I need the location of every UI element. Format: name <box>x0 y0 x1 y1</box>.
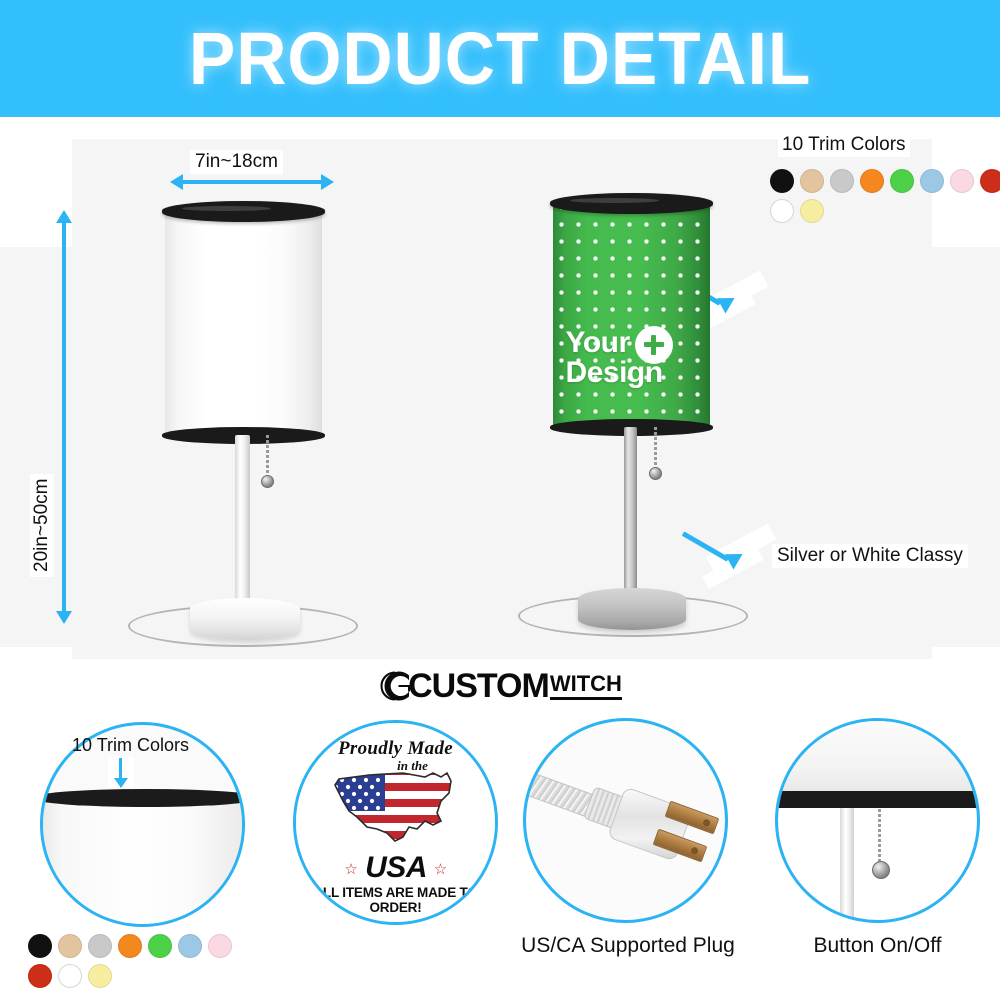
header-banner: PRODUCT DETAIL <box>0 0 1000 117</box>
pull-chain-ball[interactable] <box>649 467 662 480</box>
features-section: 10 Trim Colors Proudly Made in the <box>0 710 1000 1000</box>
brand-logo: CUSTOM WITCH <box>0 662 1000 710</box>
pull-chain[interactable] <box>654 427 657 471</box>
star-icon-left: ☆ <box>344 861 357 878</box>
lamp-pole-silver <box>624 427 637 613</box>
feature-trim-colors: 10 Trim Colors <box>0 710 260 1000</box>
feature-switch-caption: Button On/Off <box>765 932 990 960</box>
lampshade-surface <box>165 207 322 437</box>
trim-swatch-orange[interactable] <box>118 934 142 958</box>
lamp-base-silver <box>578 588 686 630</box>
feature-plug-caption: US/CA Supported Plug <box>503 932 753 960</box>
trim-swatch-pink[interactable] <box>950 169 974 193</box>
feature-usa-circle: Proudly Made in the <box>293 720 498 925</box>
feature-plug-circle <box>523 718 728 923</box>
lampshade-trim-closeup <box>40 789 245 807</box>
pull-chain[interactable] <box>266 435 269 479</box>
trim-swatch-yellow[interactable] <box>88 964 112 988</box>
usa-badge-word: ☆ USA ☆ <box>296 851 495 885</box>
trim-swatch-gray[interactable] <box>830 169 854 193</box>
lampshade-bottom-closeup <box>775 718 980 795</box>
base-finish-label: Silver or White Classy <box>772 544 968 568</box>
lamp-base-white <box>190 598 300 640</box>
feature-switch: Button On/Off <box>755 710 1000 1000</box>
usa-map-flag-icon <box>329 767 463 851</box>
height-arrow <box>62 222 66 612</box>
lamp-pole <box>235 435 250 625</box>
brand-underline <box>550 697 622 700</box>
trim-colors-arrow-head <box>114 778 128 788</box>
lampshade-closeup <box>40 797 245 927</box>
width-dimension-label: 7in~18cm <box>190 150 283 174</box>
lamp-pole-closeup <box>840 808 854 923</box>
lampshade-trim-bottom-closeup <box>775 791 980 808</box>
trim-swatch-pink[interactable] <box>208 934 232 958</box>
brand-name-secondary-wrap: WITCH <box>550 673 622 700</box>
lampshade-custom[interactable]: Your Design <box>553 199 710 429</box>
trim-swatch-white[interactable] <box>58 964 82 988</box>
pull-chain-ball-closeup[interactable] <box>872 861 890 879</box>
trim-swatch-red[interactable] <box>980 169 1000 193</box>
product-detail-page: PRODUCT DETAIL 10 Trim Colors 7in~18cm 2… <box>0 0 1000 1000</box>
trim-swatch-light-blue[interactable] <box>920 169 944 193</box>
trim-swatch-yellow[interactable] <box>800 199 824 223</box>
showcase-section: 10 Trim Colors 7in~18cm 20in~50cm <box>0 117 1000 710</box>
brand-name-primary: CUSTOM <box>408 667 549 706</box>
lampshade-surface-green <box>553 199 710 429</box>
trim-swatch-red[interactable] <box>28 964 52 988</box>
trim-colors-title: 10 Trim Colors <box>778 133 910 157</box>
trim-swatch-green[interactable] <box>890 169 914 193</box>
trim-swatch-green[interactable] <box>148 934 172 958</box>
trim-swatch-white[interactable] <box>770 199 794 223</box>
trim-colors-arrow-shaft <box>119 758 122 780</box>
lampshade-top-trim <box>550 193 713 214</box>
trim-swatch-black[interactable] <box>770 169 794 193</box>
trim-swatch-gray[interactable] <box>88 934 112 958</box>
feature-trim-color-swatch-row[interactable] <box>28 934 258 988</box>
usa-badge-line1: Proudly Made <box>296 739 495 758</box>
lampshade-blank <box>165 207 322 437</box>
brand-name-secondary: WITCH <box>550 673 622 695</box>
pull-chain-closeup[interactable] <box>878 809 881 865</box>
feature-trim-colors-title: 10 Trim Colors <box>68 734 193 757</box>
trim-swatch-light-blue[interactable] <box>178 934 202 958</box>
trim-swatch-tan[interactable] <box>800 169 824 193</box>
feature-plug: US/CA Supported Plug <box>495 710 760 1000</box>
page-title: PRODUCT DETAIL <box>189 16 811 101</box>
trim-color-swatch-row[interactable] <box>770 169 1000 223</box>
trim-swatch-black[interactable] <box>28 934 52 958</box>
trim-swatch-orange[interactable] <box>860 169 884 193</box>
height-dimension-label: 20in~50cm <box>30 474 54 577</box>
feature-made-in-usa: Proudly Made in the <box>275 710 500 1000</box>
usa-badge: Proudly Made in the <box>296 723 495 922</box>
pull-chain-ball[interactable] <box>261 475 274 488</box>
brand-c-mark-icon <box>378 669 412 703</box>
lampshade-top-trim <box>162 201 325 222</box>
star-icon-right: ☆ <box>434 861 447 878</box>
usa-badge-subtitle: ALL ITEMS ARE MADE TO ORDER! <box>296 885 495 915</box>
feature-switch-circle <box>775 718 980 923</box>
add-design-plus-icon[interactable] <box>635 326 673 364</box>
trim-swatch-tan[interactable] <box>58 934 82 958</box>
width-arrow <box>182 180 322 184</box>
